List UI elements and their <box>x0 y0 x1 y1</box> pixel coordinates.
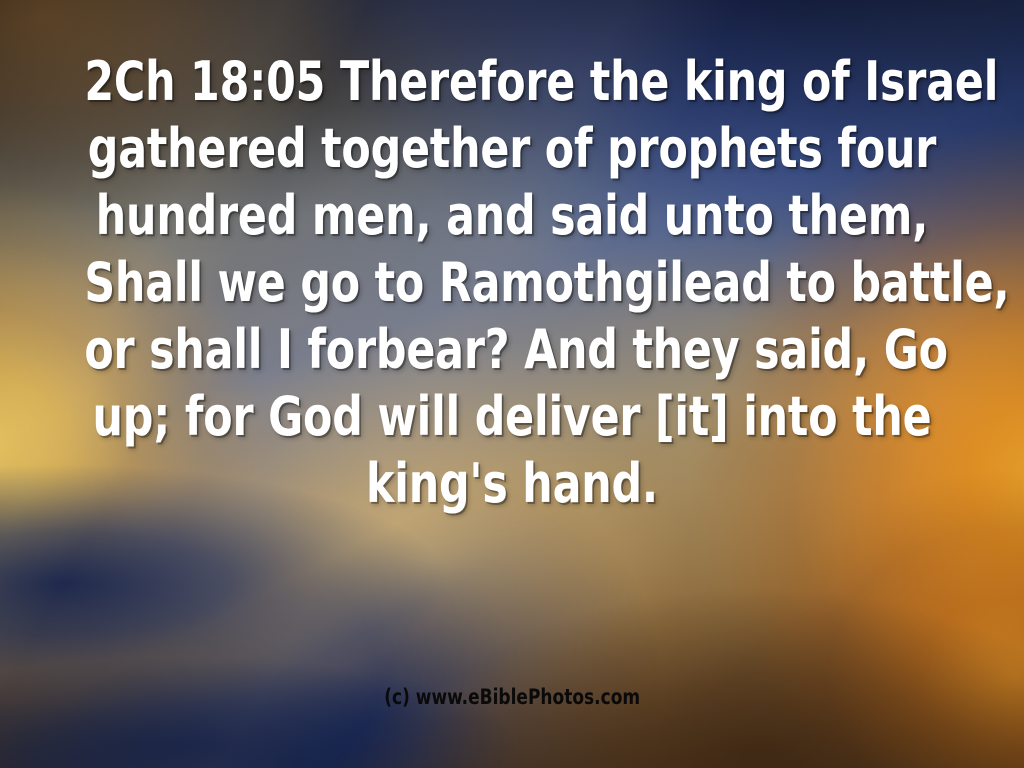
verse-line: king's hand. <box>84 450 939 517</box>
verse-line: 2Ch 18:05 Therefore the king of Israel <box>84 48 939 115</box>
copyright-credit: (c) www.eBiblePhotos.com <box>0 686 1024 709</box>
verse-line: or shall I forbear? And they said, Go <box>84 316 939 383</box>
verse-line: Shall we go to Ramothgilead to battle, <box>84 249 939 316</box>
verse-text-block: 2Ch 18:05 Therefore the king of Israel g… <box>0 48 1024 517</box>
verse-line: gathered together of prophets four <box>84 115 939 182</box>
verse-photo-canvas: 2Ch 18:05 Therefore the king of Israel g… <box>0 0 1024 768</box>
verse-line: hundred men, and said unto them, <box>84 182 939 249</box>
verse-line: up; for God will deliver [it] into the <box>84 383 939 450</box>
copyright-credit-text: (c) www.eBiblePhotos.com <box>384 686 640 708</box>
